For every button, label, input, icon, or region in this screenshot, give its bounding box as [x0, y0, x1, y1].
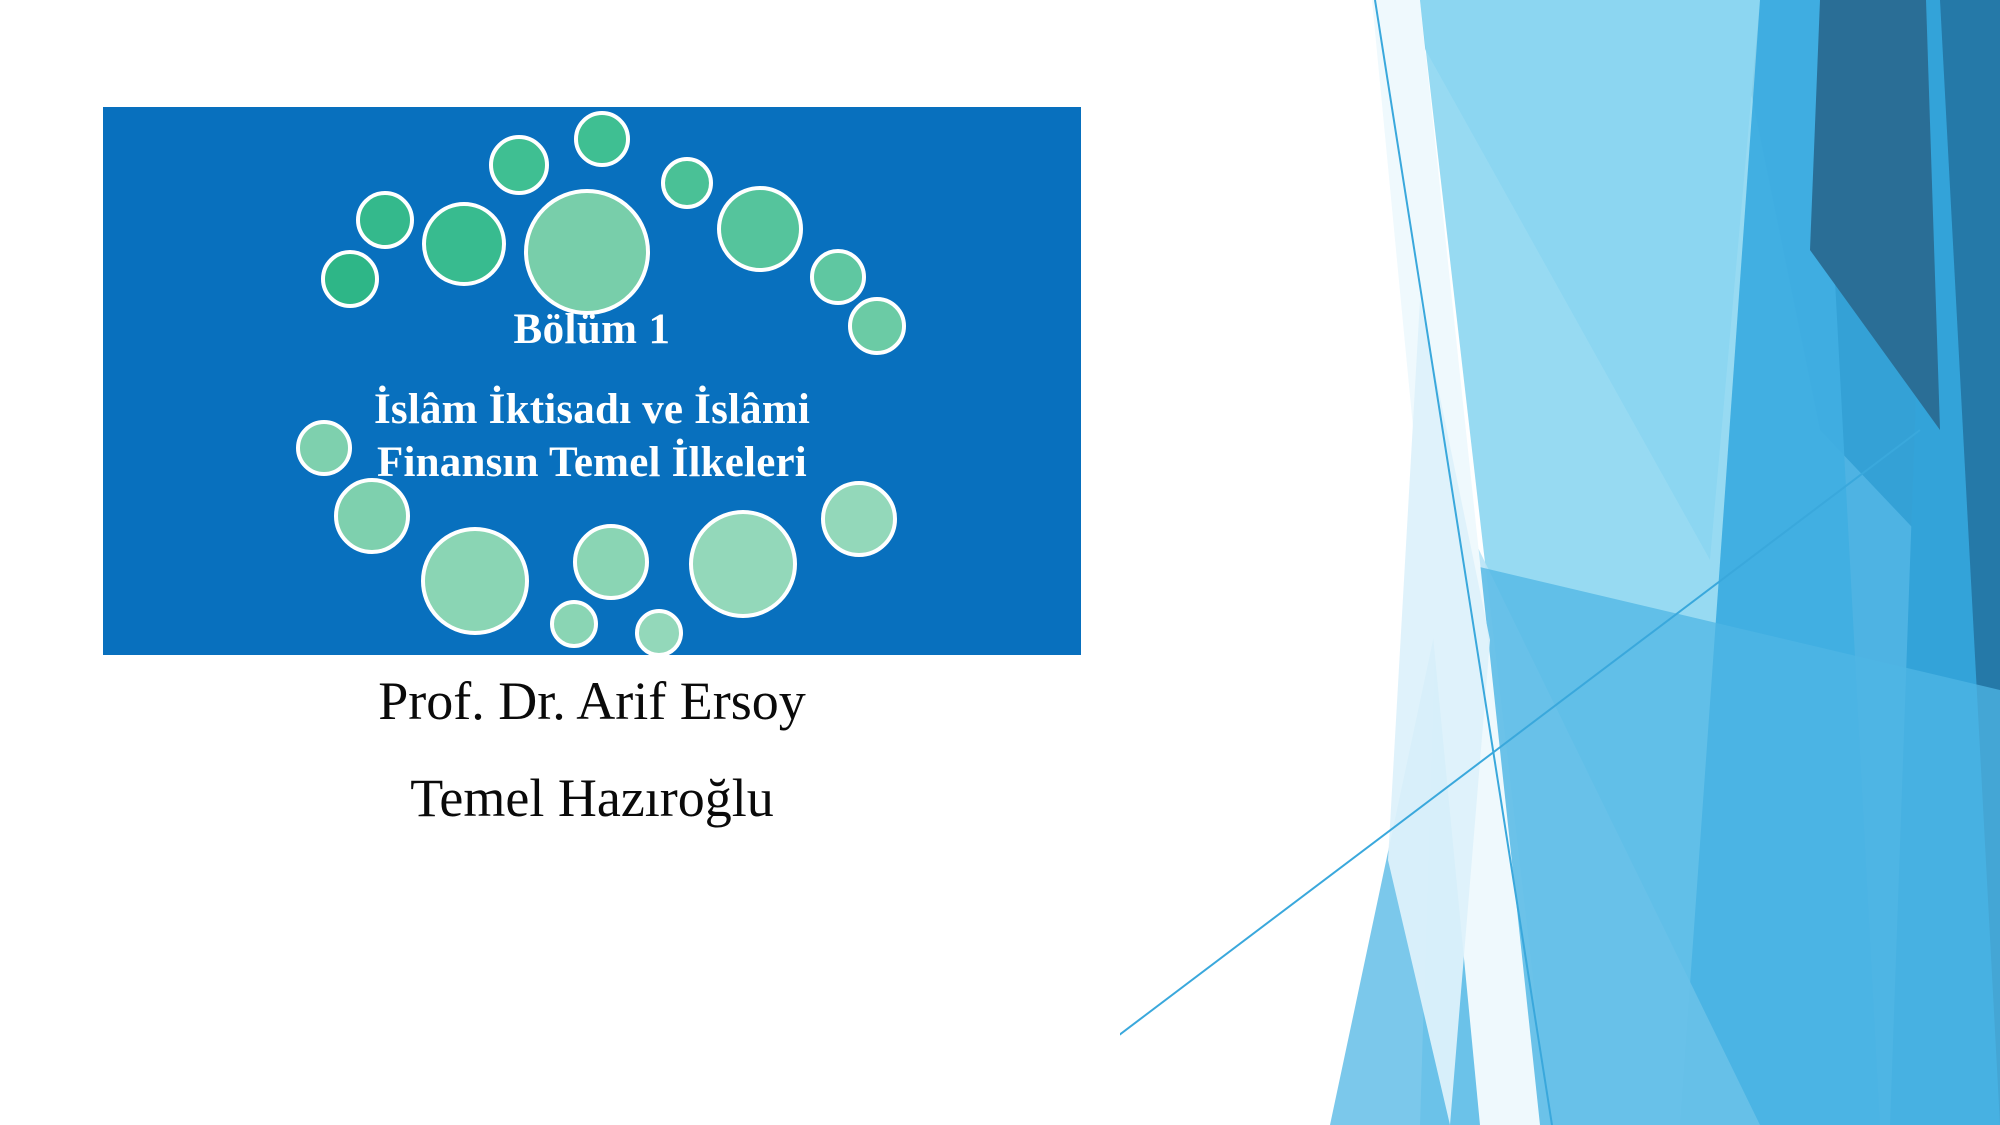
bubble-upper-right-1	[661, 157, 713, 209]
deco-shape-pale-sliver	[1372, 0, 1540, 1125]
title-picture-panel: Bölüm 1 İslâm İktisadı ve İslâmi Finansı…	[103, 107, 1081, 655]
bubble-left-small	[356, 191, 414, 249]
bubble-lower-left-med	[334, 478, 410, 554]
deco-svg	[1120, 0, 2000, 1125]
deco-hairline-1	[1375, 0, 1552, 1125]
title-line-2: Finansın Temel İlkeleri	[103, 437, 1081, 489]
deco-shape-pale-upper	[1420, 0, 1880, 1125]
bubble-bottom-large-2	[689, 510, 797, 618]
title-text-block: Bölüm 1 İslâm İktisadı ve İslâmi Finansı…	[103, 307, 1081, 489]
angled-blue-banner-graphic	[1120, 0, 2000, 1125]
deco-shape-slate-spike	[1810, 0, 1940, 430]
deco-shape-bright-mid	[1680, 0, 2000, 1125]
presentation-slide: Bölüm 1 İslâm İktisadı ve İslâmi Finansı…	[0, 0, 2000, 1125]
bubble-right-medium	[717, 186, 803, 272]
bubble-bottom-small-2	[635, 609, 683, 655]
bubble-far-left-small	[321, 250, 379, 308]
bubble-upper-left-1	[489, 135, 549, 195]
bubble-right-small-1	[810, 249, 866, 305]
deco-hairline-2	[1120, 430, 1920, 1125]
bubble-bottom-mid	[573, 524, 649, 600]
deco-shape-slate-dark	[1732, 0, 2000, 620]
author-name-primary: Prof. Dr. Arif Ersoy	[103, 674, 1081, 728]
chapter-label: Bölüm 1	[103, 307, 1081, 352]
bubble-bottom-right	[821, 481, 897, 557]
author-name-secondary: Temel Hazıroğlu	[103, 771, 1081, 825]
deco-shape-bottom-diagonal	[1330, 560, 2000, 1125]
deco-shape-pale-sliver-2	[1388, 300, 1490, 1125]
deco-shape-deep-blue	[1890, 0, 2000, 1125]
title-line-1: İslâm İktisadı ve İslâmi	[103, 384, 1081, 436]
author-block: Prof. Dr. Arif Ersoy Temel Hazıroğlu	[103, 660, 1081, 825]
bubble-bottom-large-1	[421, 527, 529, 635]
bubble-top-center	[574, 111, 630, 167]
deco-shape-light-lower	[1420, 470, 1760, 1125]
bubble-left-medium	[422, 202, 506, 286]
bubble-center-large	[524, 189, 650, 315]
bubble-bottom-small-1	[550, 600, 598, 648]
deco-shape-sky-band	[1380, 0, 1760, 560]
